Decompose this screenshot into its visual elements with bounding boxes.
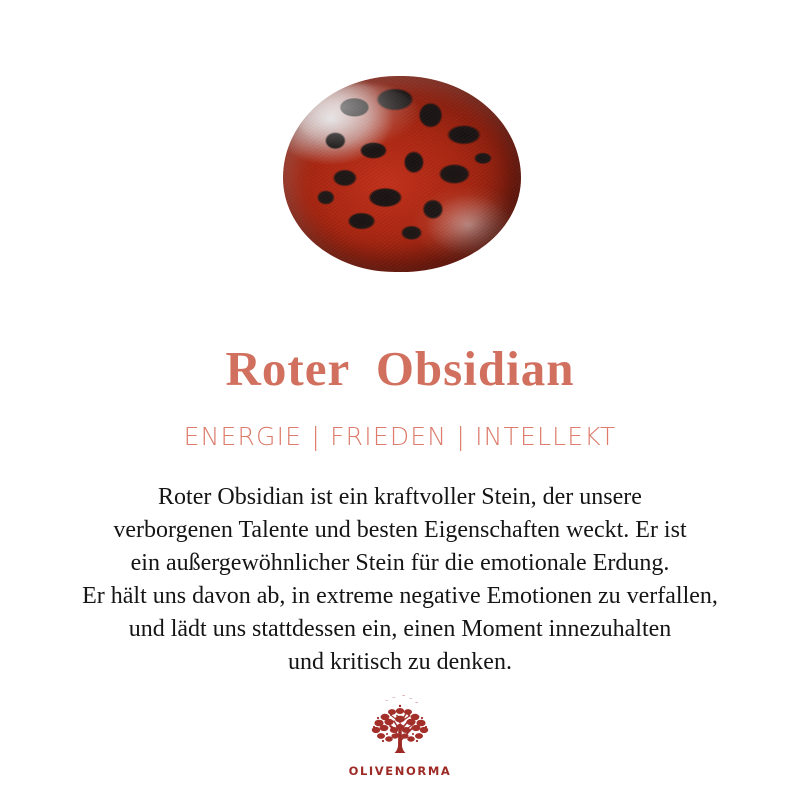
product-description: Roter Obsidian ist ein kraftvoller Stein… [0, 481, 800, 679]
stone-body [283, 76, 521, 272]
stone-image [283, 76, 521, 272]
description-line: verborgenen Talente und besten Eigenscha… [0, 514, 800, 547]
description-line: und lädt uns stattdessen ein, einen Mome… [0, 613, 800, 646]
tree-icon [365, 694, 435, 762]
description-line: Roter Obsidian ist ein kraftvoller Stein… [0, 481, 800, 514]
product-info-card: Roter Obsidian ENERGIE | FRIEDEN | INTEL… [0, 0, 800, 800]
description-line: und kritisch zu denken. [0, 646, 800, 679]
brand-logo: OLIVENORMA [0, 694, 800, 778]
product-keywords: ENERGIE | FRIEDEN | INTELLEKT [0, 422, 800, 451]
stone-highlight [297, 84, 421, 151]
description-line: ein außergewöhnlicher Stein für die emot… [0, 547, 800, 580]
page-title: Roter Obsidian [0, 340, 800, 397]
description-line: Er hält uns davon ab, in extreme negativ… [0, 580, 800, 613]
brand-wordmark: OLIVENORMA [349, 764, 452, 778]
